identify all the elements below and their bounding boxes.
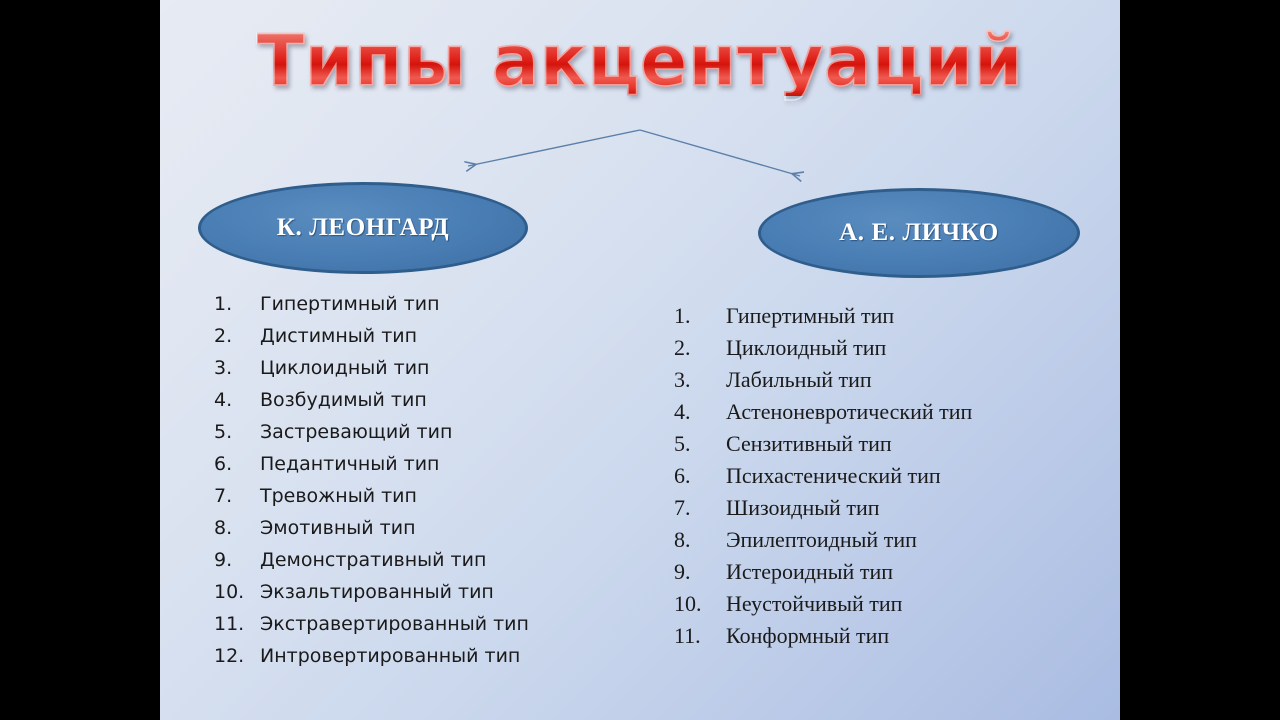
list-item: 5. Застревающий тип <box>214 416 634 448</box>
list-item-number: 5. <box>674 428 726 460</box>
list-item-number: 7. <box>214 480 260 512</box>
list-item: 3. Циклоидный тип <box>214 352 634 384</box>
list-item: 10. Экзальтированный тип <box>214 576 634 608</box>
list-item-label: Эпилептоидный тип <box>726 524 1094 556</box>
list-item-label: Дистимный тип <box>260 320 634 352</box>
list-item-number: 10. <box>214 576 260 608</box>
list-item-label: Экзальтированный тип <box>260 576 634 608</box>
list-item: 8. Эпилептоидный тип <box>674 524 1094 556</box>
list-item-number: 10. <box>674 588 726 620</box>
list-item: 4. Возбудимый тип <box>214 384 634 416</box>
list-item-number: 9. <box>214 544 260 576</box>
list-item-label: Застревающий тип <box>260 416 634 448</box>
list-item-number: 1. <box>214 288 260 320</box>
list-item-label: Циклоидный тип <box>726 332 1094 364</box>
list-item-label: Лабильный тип <box>726 364 1094 396</box>
presentation-slide: Типы акцентуаций К. ЛЕОНГАРД А. Е. ЛИЧКО <box>160 0 1120 720</box>
list-item-label: Шизоидный тип <box>726 492 1094 524</box>
list-item-number: 11. <box>674 620 726 652</box>
list-item-label: Педантичный тип <box>260 448 634 480</box>
list-item-number: 4. <box>674 396 726 428</box>
list-item: 5. Сензитивный тип <box>674 428 1094 460</box>
list-item-label: Истероидный тип <box>726 556 1094 588</box>
list-item: 11. Экстравертированный тип <box>214 608 634 640</box>
branch-heading-leonhard-label: К. ЛЕОНГАРД <box>277 214 449 242</box>
list-item-number: 9. <box>674 556 726 588</box>
list-item-number: 4. <box>214 384 260 416</box>
list-item-label: Циклоидный тип <box>260 352 634 384</box>
list-item: 9. Демонстративный тип <box>214 544 634 576</box>
list-item: 1. Гипертимный тип <box>674 300 1094 332</box>
list-item-number: 7. <box>674 492 726 524</box>
list-item-label: Сензитивный тип <box>726 428 1094 460</box>
list-item-number: 8. <box>214 512 260 544</box>
list-item-number: 3. <box>214 352 260 384</box>
letterbox-bar-right <box>1120 0 1280 720</box>
list-item-label: Психастенический тип <box>726 460 1094 492</box>
list-item: 1. Гипертимный тип <box>214 288 634 320</box>
list-item: 2. Дистимный тип <box>214 320 634 352</box>
list-item-label: Неустойчивый тип <box>726 588 1094 620</box>
list-item-label: Тревожный тип <box>260 480 634 512</box>
list-item: 6. Педантичный тип <box>214 448 634 480</box>
list-item-number: 6. <box>674 460 726 492</box>
list-item-number: 2. <box>214 320 260 352</box>
list-item: 7. Тревожный тип <box>214 480 634 512</box>
list-item-label: Гипертимный тип <box>260 288 634 320</box>
screenshot-frame: Типы акцентуаций К. ЛЕОНГАРД А. Е. ЛИЧКО <box>0 0 1280 720</box>
page-title-text: Типы акцентуаций <box>257 26 1024 96</box>
list-item: 12. Интровертированный тип <box>214 640 634 672</box>
list-item-label: Конформный тип <box>726 620 1094 652</box>
list-item-number: 11. <box>214 608 260 640</box>
list-item: 11. Конформный тип <box>674 620 1094 652</box>
list-item: 3. Лабильный тип <box>674 364 1094 396</box>
list-item: 8. Эмотивный тип <box>214 512 634 544</box>
list-item-number: 3. <box>674 364 726 396</box>
list-item: 4. Астеноневротический тип <box>674 396 1094 428</box>
list-item: 6. Психастенический тип <box>674 460 1094 492</box>
list-item: 2. Циклоидный тип <box>674 332 1094 364</box>
list-item-number: 8. <box>674 524 726 556</box>
list-item-label: Эмотивный тип <box>260 512 634 544</box>
branch-heading-lichko-label: А. Е. ЛИЧКО <box>839 219 999 247</box>
list-item: 7. Шизоидный тип <box>674 492 1094 524</box>
accentuation-list-lichko: 1. Гипертимный тип 2. Циклоидный тип 3. … <box>674 300 1094 652</box>
list-item-number: 12. <box>214 640 260 672</box>
list-item-number: 2. <box>674 332 726 364</box>
list-item: 9. Истероидный тип <box>674 556 1094 588</box>
list-item-number: 6. <box>214 448 260 480</box>
page-title: Типы акцентуаций <box>160 26 1120 96</box>
letterbox-bar-left <box>0 0 160 720</box>
list-item-label: Возбудимый тип <box>260 384 634 416</box>
branch-heading-leonhard[interactable]: К. ЛЕОНГАРД <box>198 182 528 274</box>
list-item-label: Гипертимный тип <box>726 300 1094 332</box>
list-item-label: Экстравертированный тип <box>260 608 634 640</box>
list-item-label: Интровертированный тип <box>260 640 634 672</box>
accentuation-list-leonhard: 1. Гипертимный тип 2. Дистимный тип 3. Ц… <box>214 288 634 672</box>
list-item: 10. Неустойчивый тип <box>674 588 1094 620</box>
list-item-label: Демонстративный тип <box>260 544 634 576</box>
list-item-number: 5. <box>214 416 260 448</box>
branch-heading-lichko[interactable]: А. Е. ЛИЧКО <box>758 188 1080 278</box>
list-item-label: Астеноневротический тип <box>726 396 1094 428</box>
list-item-number: 1. <box>674 300 726 332</box>
